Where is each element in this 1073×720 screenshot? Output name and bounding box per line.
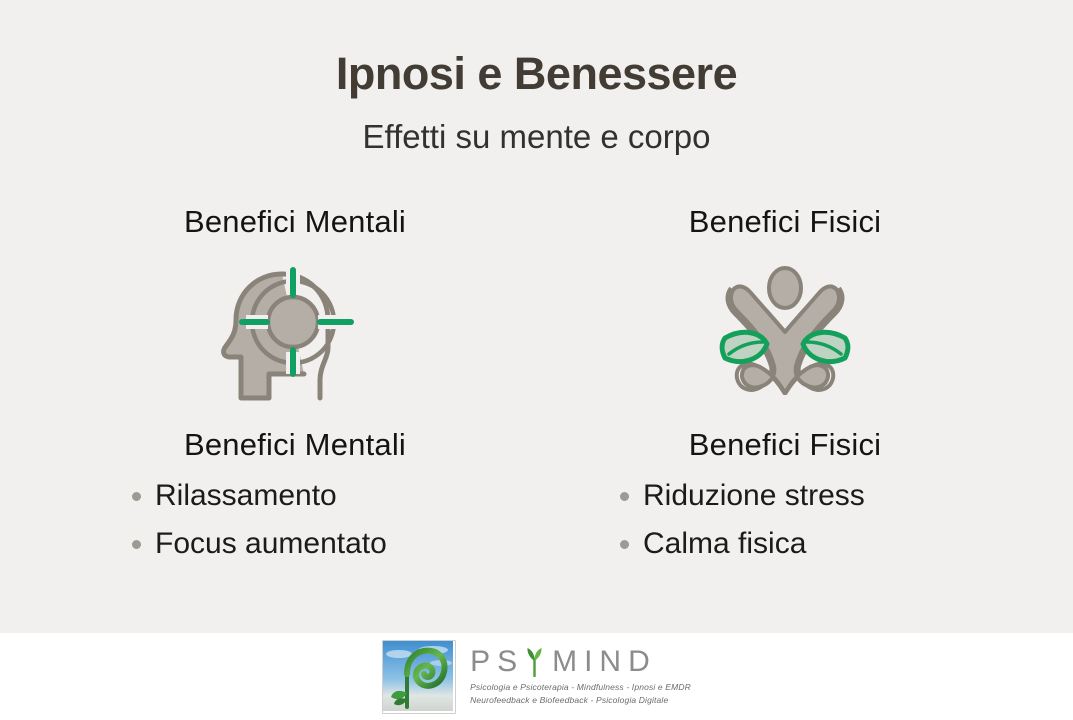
bullet-list-fisici: Riduzione stress Calma fisica [570, 481, 1000, 559]
page-subtitle: Effetti su mente e corpo [0, 118, 1073, 156]
icon-container-fisici [570, 257, 1000, 417]
infographic-slide: Ipnosi e Benessere Effetti su mente e co… [0, 0, 1073, 720]
bullet-text: Rilassamento [155, 481, 337, 511]
wordmark-after: MIND [552, 647, 657, 677]
column-benefici-mentali: Benefici Mentali [80, 205, 510, 577]
psymind-wordmark: PS MIND [470, 647, 691, 677]
column-heading-fisici: Benefici Fisici [570, 427, 1000, 463]
tagline-line-2: Neurofeedback e Biofeedback - Psicologia… [470, 695, 691, 706]
footer-branding: PS MIND Psicologia e Psicoterapia - Mind… [0, 633, 1073, 720]
wordmark-before: PS [470, 647, 524, 677]
list-item: Riduzione stress [570, 481, 1000, 511]
column-top-label-fisici: Benefici Fisici [570, 205, 1000, 239]
bullet-text: Riduzione stress [643, 481, 865, 511]
list-item: Calma fisica [570, 529, 1000, 559]
psymind-spiral-fern-logo [382, 640, 456, 714]
person-leaves-wellness-icon [715, 262, 855, 412]
bullet-text: Calma fisica [643, 529, 806, 559]
bullet-list-mentali: Rilassamento Focus aumentato [80, 481, 510, 559]
bullet-dot-icon [620, 540, 629, 549]
column-benefici-fisici: Benefici Fisici [570, 205, 1000, 577]
bullet-dot-icon [132, 492, 141, 501]
column-top-label-mentali: Benefici Mentali [80, 205, 510, 239]
logo-text-block: PS MIND Psicologia e Psicoterapia - Mind… [470, 647, 691, 706]
icon-container-mentali [80, 257, 510, 417]
sprout-y-glyph-icon [524, 647, 545, 677]
bullet-dot-icon [620, 492, 629, 501]
column-heading-mentali: Benefici Mentali [80, 427, 510, 463]
head-focus-target-icon [220, 262, 370, 412]
page-title: Ipnosi e Benessere [0, 48, 1073, 100]
bullet-text: Focus aumentato [155, 529, 387, 559]
list-item: Focus aumentato [80, 529, 510, 559]
bullet-dot-icon [132, 540, 141, 549]
list-item: Rilassamento [80, 481, 510, 511]
tagline-line-1: Psicologia e Psicoterapia - Mindfulness … [470, 682, 691, 693]
logo-row: PS MIND Psicologia e Psicoterapia - Mind… [382, 640, 691, 714]
